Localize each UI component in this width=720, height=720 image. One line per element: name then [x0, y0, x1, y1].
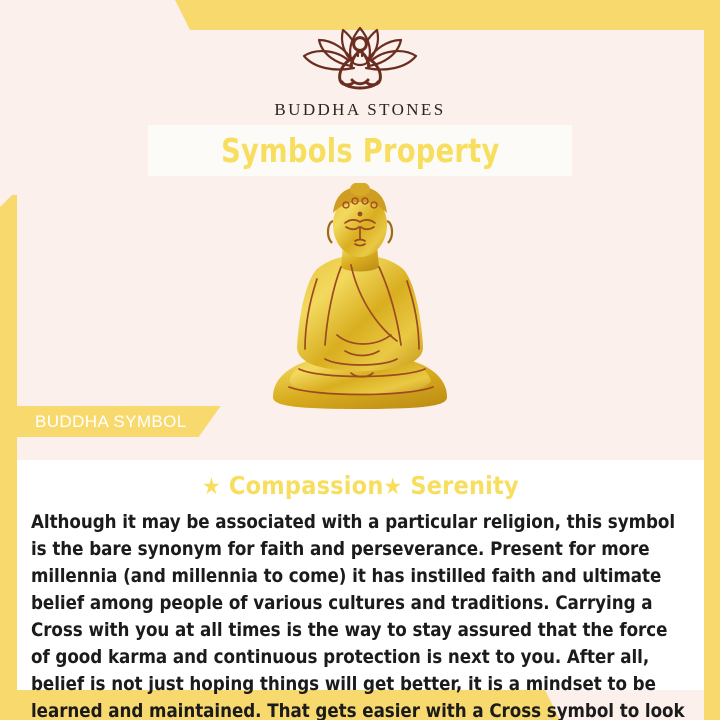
poster-root: BUDDHA STONES Symbols Property — [0, 0, 720, 720]
title-banner: Symbols Property — [148, 125, 572, 176]
heading-word-serenity: Serenity — [410, 471, 519, 500]
hero-image-wrap — [0, 180, 720, 415]
brand-name: BUDDHA STONES — [0, 100, 720, 120]
brand-logo-block: BUDDHA STONES — [0, 22, 720, 120]
lotus-meditation-icon — [290, 22, 430, 96]
page-title: Symbols Property — [221, 131, 499, 170]
content-card: ★ Compassion★ Serenity Although it may b… — [17, 460, 704, 690]
category-ribbon: BUDDHA SYMBOL — [17, 406, 221, 437]
category-ribbon-label: BUDDHA SYMBOL — [35, 412, 187, 432]
content-heading: ★ Compassion★ Serenity — [17, 460, 704, 500]
star-icon-right: ★ — [384, 474, 403, 500]
golden-seated-buddha-illustration — [255, 183, 465, 415]
heading-word-compassion: Compassion — [229, 471, 384, 500]
star-icon-left: ★ — [202, 474, 221, 500]
content-paragraph: Although it may be associated with a par… — [17, 500, 704, 720]
